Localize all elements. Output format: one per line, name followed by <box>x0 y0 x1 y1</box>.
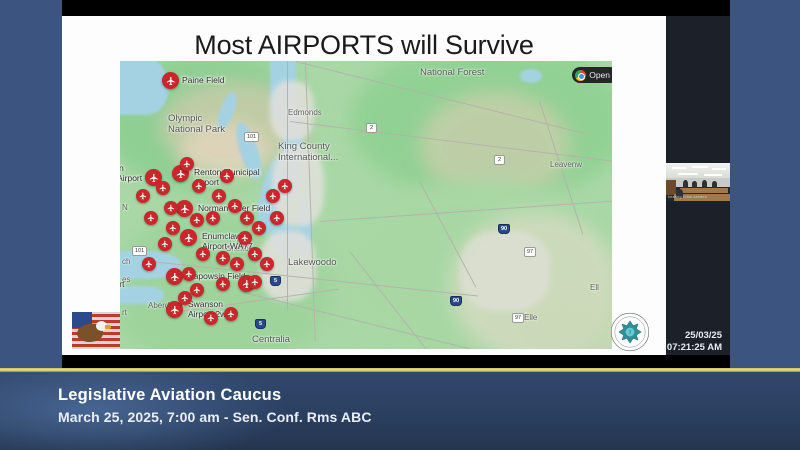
airport-pin[interactable] <box>204 311 218 325</box>
airport-pin[interactable] <box>216 251 230 265</box>
highway-shield: 2 <box>366 123 377 133</box>
airport-label: Bremerton National Airport <box>120 163 142 183</box>
map-place-label: King County International... <box>278 141 338 163</box>
airport-pin[interactable] <box>190 213 204 227</box>
seal-graphic: ? <box>610 312 650 352</box>
airport-label: Olympia Regional Airport <box>120 269 124 289</box>
airport-pin[interactable] <box>216 277 230 291</box>
airport-pin[interactable] <box>248 275 262 289</box>
american-flag-eagle-image <box>72 312 120 349</box>
airport-pin[interactable] <box>182 267 196 281</box>
pip-caption: hearing room camera <box>668 195 707 199</box>
highway-shield: 5 <box>255 319 266 329</box>
airport-map[interactable]: National ForestOlympic National ParkEdmo… <box>120 61 612 349</box>
letterbox-top <box>62 0 730 16</box>
airport-pin[interactable] <box>166 221 180 235</box>
airport-pin[interactable] <box>196 247 210 261</box>
pip-ceiling-light <box>712 168 726 170</box>
map-place-label: rt <box>122 308 127 317</box>
map-place-label: Olympic National Park <box>168 113 225 135</box>
map-place-label: Edmonds <box>288 108 322 117</box>
airport-pin[interactable] <box>192 179 206 193</box>
highway-shield: 97 <box>524 247 536 257</box>
airport-pin[interactable] <box>238 231 252 245</box>
presentation-slide: Most AIRPORTS will Survive <box>62 16 666 355</box>
airport-pin[interactable] <box>180 157 194 171</box>
airport-pin[interactable] <box>220 169 234 183</box>
airport-pin[interactable] <box>166 268 183 285</box>
pip-webcam-thumbnail[interactable]: hearing room camera <box>666 163 730 201</box>
airport-pin[interactable] <box>136 189 150 203</box>
map-place-label: Ell <box>590 283 599 292</box>
pip-wood-panel <box>666 180 676 195</box>
airport-pin[interactable] <box>190 283 204 297</box>
video-player-area[interactable]: Most AIRPORTS will Survive <box>0 0 730 368</box>
airport-pin[interactable] <box>266 189 280 203</box>
pip-ceiling-light <box>692 166 708 168</box>
letterbox-bottom <box>62 355 730 368</box>
pip-ceiling-light <box>704 174 722 176</box>
pip-ceiling-light <box>678 173 698 175</box>
airport-pin[interactable] <box>206 211 220 225</box>
airport-pin[interactable] <box>224 307 238 321</box>
airport-pin[interactable] <box>156 181 170 195</box>
water-body <box>520 69 542 83</box>
airport-pin[interactable] <box>144 211 158 225</box>
open-chip-label: Open <box>589 70 610 80</box>
airport-pin[interactable] <box>278 179 292 193</box>
airport-pin[interactable] <box>142 257 156 271</box>
highway-shield: 90 <box>498 224 510 234</box>
airport-pin[interactable] <box>248 247 262 261</box>
airport-pin[interactable] <box>240 211 254 225</box>
airport-pin[interactable] <box>162 72 179 89</box>
map-place-label: Leavenw <box>550 160 582 169</box>
banner-title: Legislative Aviation Caucus <box>58 386 372 405</box>
map-place-label: Lakewoodo <box>288 257 337 268</box>
chrome-icon <box>575 70 586 81</box>
highway-shield: 2 <box>494 155 505 165</box>
airport-pin[interactable] <box>228 199 242 213</box>
airport-pin[interactable] <box>212 189 226 203</box>
map-place-label: Centralia <box>252 334 290 345</box>
highway-shield: 90 <box>450 296 462 306</box>
pip-table <box>680 188 728 193</box>
banner-text-block: Legislative Aviation Caucus March 25, 20… <box>58 386 372 425</box>
highway-shield: 101 <box>244 132 259 142</box>
highway-shield: 97 <box>512 313 524 323</box>
eagle-beak <box>105 325 111 329</box>
airport-pin[interactable] <box>164 201 178 215</box>
airport-pin[interactable] <box>176 200 193 217</box>
clock-date: 25/03/25 <box>667 330 722 342</box>
airport-pin[interactable] <box>260 257 274 271</box>
water-body <box>120 61 168 115</box>
airport-pin[interactable] <box>230 257 244 271</box>
clock-time: 07:21:25 AM <box>667 342 722 354</box>
urban-area <box>460 231 550 311</box>
banner-subtitle: March 25, 2025, 7:00 am - Sen. Conf. Rms… <box>58 409 372 425</box>
lower-third-banner: Legislative Aviation Caucus March 25, 20… <box>0 372 800 450</box>
airport-pin[interactable] <box>158 237 172 251</box>
map-place-label: ch <box>122 257 130 266</box>
map-place-label: Elle <box>524 313 537 322</box>
emergency-management-seal: ? <box>610 312 650 352</box>
slide-title: Most AIRPORTS will Survive <box>62 30 666 61</box>
airport-pin[interactable] <box>252 221 266 235</box>
chrome-open-chip[interactable]: Open <box>572 67 612 83</box>
pip-person <box>702 180 707 188</box>
map-place-label: N <box>122 203 128 212</box>
airport-pin[interactable] <box>270 211 284 225</box>
airport-pin[interactable] <box>180 229 197 246</box>
letterbox-left <box>0 0 62 368</box>
flag-stripe <box>72 344 120 347</box>
pip-ceiling-light <box>672 167 686 169</box>
pip-person <box>712 181 717 188</box>
pip-person <box>692 181 697 188</box>
clock-overlay: 25/03/25 07:21:25 AM <box>667 330 722 354</box>
airport-label: Paine Field <box>182 75 225 85</box>
highway-shield: 101 <box>132 246 147 256</box>
highway-shield: 5 <box>270 276 281 286</box>
pip-person <box>683 180 688 188</box>
map-place-label: National Forest <box>420 67 484 78</box>
